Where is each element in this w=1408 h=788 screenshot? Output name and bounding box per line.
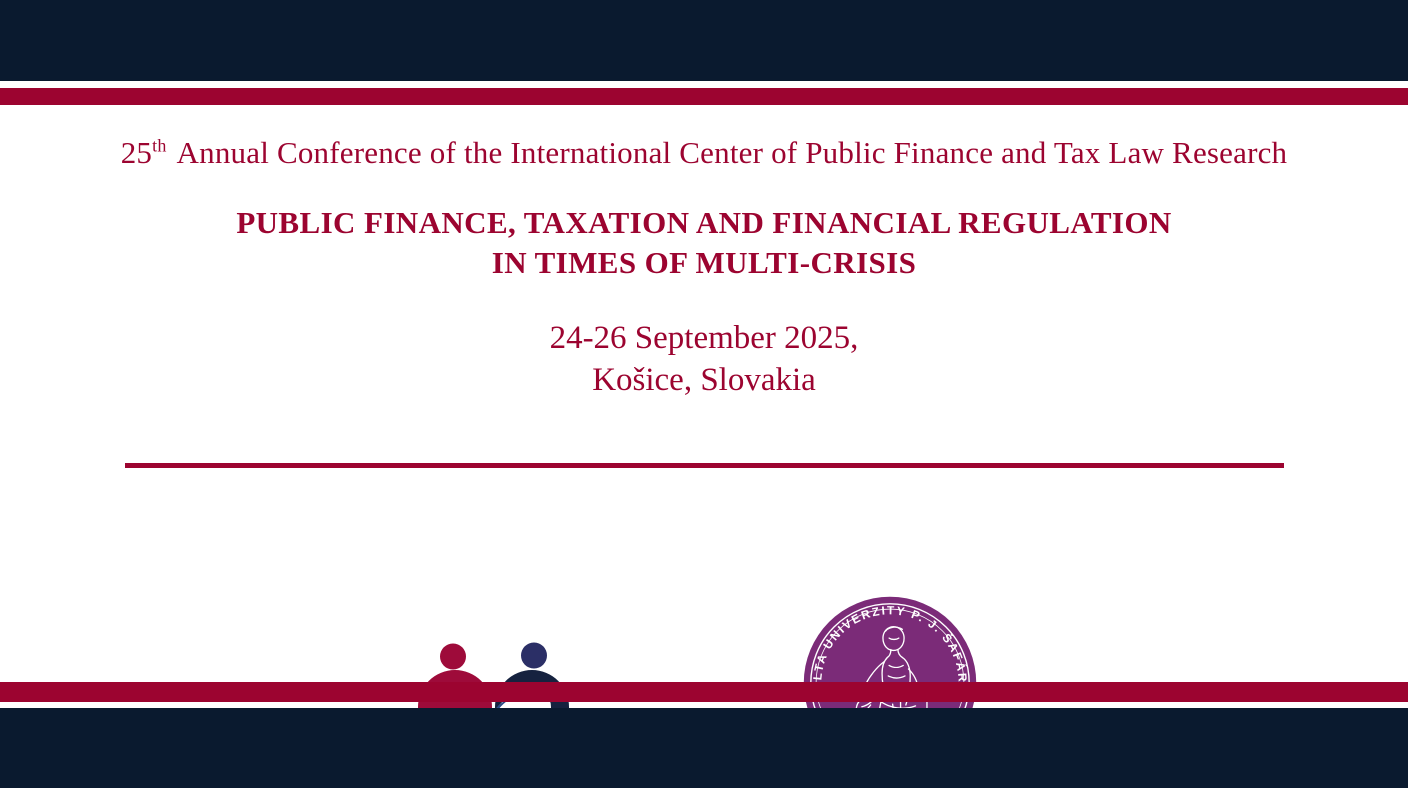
logo-row: PRÁVNICKÁ FAKULTA UNIVERZITY P. J. ŠAFÁR… [0, 485, 1408, 675]
title-line-1: PUBLIC FINANCE, TAXATION AND FINANCIAL R… [0, 203, 1408, 243]
ordinal-number: 25 [121, 135, 152, 170]
event-location: Košice, Slovakia [0, 359, 1408, 401]
conference-ordinal: 25th [121, 135, 167, 170]
conference-title-slide: 25thAnnual Conference of the Internation… [0, 0, 1408, 788]
conference-subtitle: 25thAnnual Conference of the Internation… [0, 135, 1408, 171]
event-dates: 24-26 September 2025, [0, 317, 1408, 359]
horizontal-rule [125, 463, 1284, 468]
bottom-navy-band [0, 708, 1408, 788]
bottom-crimson-band [0, 682, 1408, 702]
event-details: 24-26 September 2025, Košice, Slovakia [0, 317, 1408, 401]
ordinal-suffix: th [152, 136, 166, 156]
top-navy-band [0, 0, 1408, 81]
slide-content: 25thAnnual Conference of the Internation… [0, 105, 1408, 682]
conference-subtitle-text: Annual Conference of the International C… [177, 135, 1288, 170]
title-line-2: IN TIMES OF MULTI-CRISIS [0, 243, 1408, 283]
page-title: PUBLIC FINANCE, TAXATION AND FINANCIAL R… [0, 203, 1408, 282]
top-crimson-band [0, 88, 1408, 105]
